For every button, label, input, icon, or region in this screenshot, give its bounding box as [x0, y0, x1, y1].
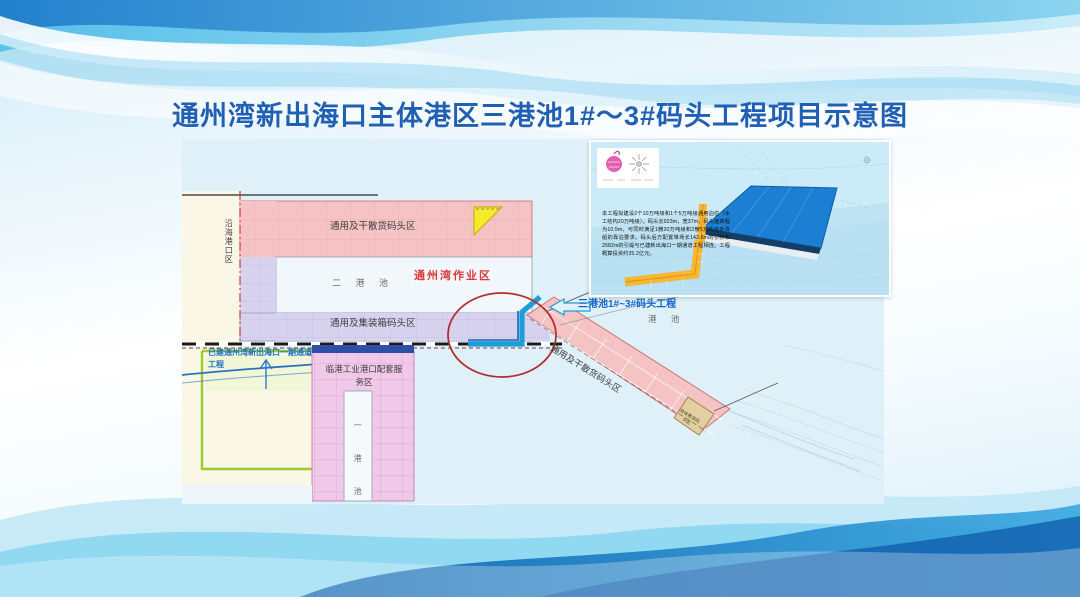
inset-description-text: 本工程拟建设2个10万吨级和1个5万吨级通用泊位（水工结构20万吨级），码头长9… [602, 210, 730, 258]
slide-canvas: 通州湾新出海口主体港区三港池1#～3#码头工程项目示意图 [0, 0, 1080, 597]
label-harbor-basin-1: 一 港 池 [353, 421, 362, 503]
label-port-industry-service-area: 临港工业港口配套服务区 [322, 363, 406, 389]
label-container-wharf: 通用及集装箱码头区 [330, 319, 416, 330]
label-harbor-basin-2: 二 港 池 [332, 278, 394, 288]
label-bulk-wharf-north: 通用及干散货码头区 [330, 222, 416, 233]
label-harbor-basin-3: 港 池 [648, 315, 685, 325]
page-title: 通州湾新出海口主体港区三港池1#～3#码头工程项目示意图 [0, 94, 1080, 133]
watermark-logo-icon [597, 148, 659, 188]
inset-detail-panel: 本工程拟建设2个10万吨级和1个5万吨级通用泊位（水工结构20万吨级），码头长9… [589, 140, 891, 297]
label-coastal-port-area: 沿海港口区 [224, 219, 233, 264]
label-tongzhouwan-operation-area: 通州湾作业区 [414, 270, 492, 283]
label-project-callout: 三港池1#~3#码头工程 [578, 299, 676, 311]
label-existing-channel-phase1: 已建通州湾新出海口一期通道工程 [208, 347, 316, 370]
logo-glyphs [597, 148, 659, 188]
